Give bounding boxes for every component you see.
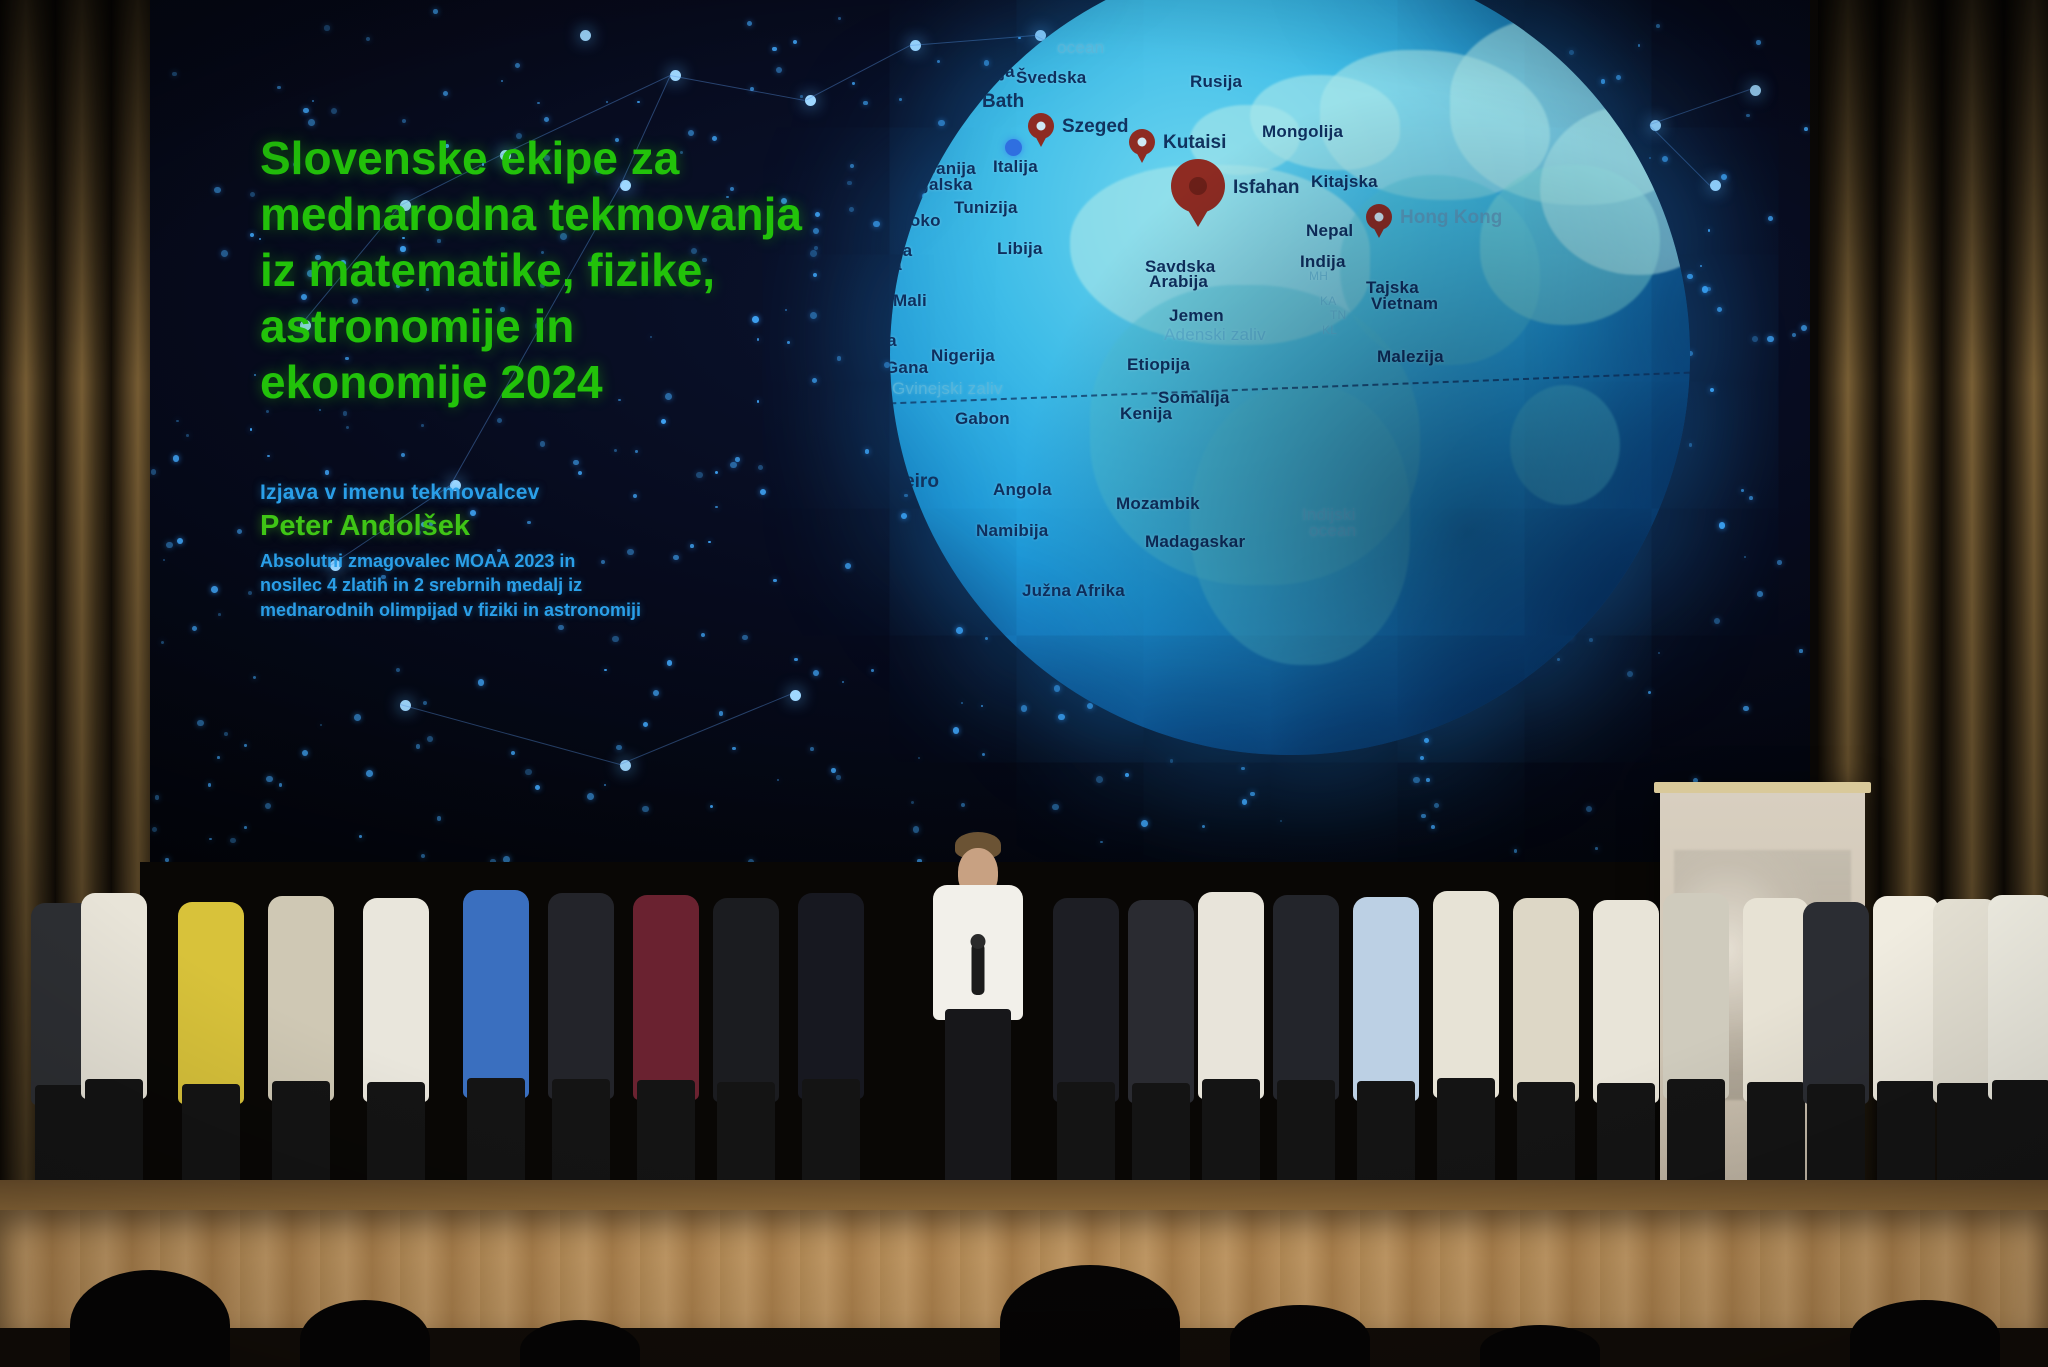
person-4 [360,840,432,1210]
star [1744,556,1746,558]
person-6 [545,835,617,1210]
map-label-12: Maroko [890,211,941,231]
pin-tail [1370,221,1388,238]
pin-head [948,88,974,114]
star [918,757,920,759]
star [849,207,854,212]
star [501,80,503,82]
star [719,711,723,715]
star [217,756,220,759]
star [1656,24,1660,28]
star [985,637,989,641]
star [525,769,531,775]
star [1719,522,1726,529]
person-torso [548,893,614,1100]
star [151,469,156,474]
star [221,250,228,257]
map-label-11: Portugalska [890,175,973,195]
star [161,641,164,644]
star [1741,489,1744,492]
star [172,72,177,77]
equator-line [890,372,1689,405]
person-torso [1128,900,1194,1103]
map-label-19: Gana [890,358,928,378]
star [847,181,851,185]
micro-label-9: NL [935,128,951,142]
bright-star [1710,180,1721,191]
person-legs [1437,1078,1495,1196]
constellation-line [910,35,1035,46]
star [1087,703,1093,709]
star [1717,307,1722,312]
star [331,108,337,114]
map-pin-isfahan[interactable]: Isfahan [1171,159,1225,213]
map-label-2: Rusija [1190,72,1242,92]
constellation-line [400,704,620,765]
star [850,164,854,168]
star [899,98,902,101]
star [831,768,836,773]
map-label-4: Kitajska [1311,172,1378,192]
star [938,120,945,127]
star [871,669,874,672]
map-label-3: Mongolija [1262,122,1343,142]
map-label-32: Južna Afrika [1022,581,1125,601]
star [366,770,373,777]
person-torso [633,895,699,1101]
star [667,660,672,665]
micro-label-8: KL [1322,323,1337,337]
pin-dot [957,97,966,106]
bright-star [580,30,591,41]
constellation-line [670,75,805,101]
star [544,117,549,122]
star [961,702,963,704]
person-torso [1053,898,1119,1102]
star [1424,738,1429,743]
credit-desc-line-2: mednarodnih olimpijad v fiziki in astron… [260,598,820,623]
star [433,9,438,14]
star [873,221,880,228]
person-torso [363,898,429,1102]
person-torso [1353,897,1419,1102]
map-pin-bath[interactable]: Bath [948,88,974,114]
person-legs [1747,1082,1805,1196]
star [224,732,228,736]
map-label-18: Gvineja [890,331,897,351]
star [302,750,308,756]
pin-dot [1037,122,1046,131]
person-23 [1985,837,2048,1210]
audience-head-5 [1480,1325,1600,1367]
city-dot-italija[interactable] [1005,139,1022,156]
star [701,633,705,637]
person-legs [272,1081,330,1196]
person-torso [1593,900,1659,1103]
star [197,720,204,727]
star [1054,685,1060,691]
map-label-16: Sahara [890,255,902,275]
person-2 [175,844,247,1210]
star [1746,114,1750,118]
star [836,775,841,780]
map-label-22: Savdska [1145,257,1215,277]
pin-label: Szeged [1062,116,1129,138]
star [981,705,983,707]
star [1757,591,1763,597]
person-13 [1270,837,1342,1210]
bright-star [1750,85,1761,96]
person-legs [1667,1079,1725,1196]
star [254,374,256,376]
person-torso [463,890,529,1098]
person-torso [1803,902,1869,1104]
star [953,727,960,734]
audience-head-4 [1230,1305,1370,1367]
star [366,37,370,41]
person-legs [1202,1079,1260,1196]
pin-label: Bath [982,91,1024,113]
constellation-line [620,694,790,765]
map-label-9: Malezija [1377,347,1444,367]
credit-description: Absolutni zmagovalec MOAA 2023 innosilec… [260,549,820,623]
star [863,101,868,106]
star [537,102,539,104]
star [1021,705,1028,712]
microphone [972,943,985,995]
pin-head [1028,113,1054,139]
people-on-stage [0,780,2048,1210]
star [558,625,564,631]
map-label-29: Mozambik [1116,494,1200,514]
projection-screen: IslandijaŠvedskaRusijaMongolijaKitajskaN… [150,0,1810,862]
pin-label: Kutaisi [1163,132,1226,154]
star [838,17,840,19]
person-20 [1800,844,1872,1210]
map-label-6: Indija [1300,252,1346,272]
map-label-5: Nepal [1306,221,1353,241]
star [732,747,736,751]
star [1687,274,1693,280]
person-torso [268,896,334,1101]
star [244,744,246,746]
star [1707,287,1711,291]
person-3 [265,838,337,1210]
person-torso [178,902,244,1104]
star [214,187,221,194]
star [842,681,844,683]
star [354,714,361,721]
person-legs [1277,1080,1335,1196]
star [1756,40,1761,45]
person-legs [802,1079,860,1196]
person-15 [1430,833,1502,1210]
person-torso [1513,898,1579,1102]
star [1420,756,1424,760]
star [852,82,854,84]
map-pin-szeged[interactable]: Szeged [1028,113,1054,139]
person-legs [1057,1082,1115,1196]
star [324,25,329,30]
pin-tail [1032,130,1050,147]
slide-title-line-1: mednarodna tekmovanja [260,186,820,242]
star [515,63,520,68]
star [218,613,221,616]
person-5 [460,832,532,1210]
person-legs [85,1079,143,1196]
star [1714,618,1720,624]
star [1752,336,1758,342]
micro-label-5: MH [1309,269,1328,283]
star [511,751,515,755]
person-legs [467,1078,525,1196]
person-legs [1357,1081,1415,1196]
map-label-14: Libija [997,239,1043,259]
star [1708,229,1710,231]
star [616,745,621,750]
credit-name: Peter Andolšek [260,510,820,543]
map-label-0: Islandija [945,62,1015,82]
star [237,529,242,534]
person-7 [630,837,702,1210]
pin-label: Rio de Janeiro [890,471,939,493]
constellation-line [805,45,910,101]
star [186,434,189,437]
map-label-20: Nigerija [931,346,995,366]
star [637,101,639,103]
star [1768,216,1773,221]
auditorium-scene: IslandijaŠvedskaRusijaMongolijaKitajskaN… [0,0,2048,1367]
person-9 [795,835,867,1210]
star [956,627,963,634]
pin-tail [1133,146,1151,163]
person-1 [78,835,150,1210]
map-label-31: Namibija [976,521,1048,541]
audience-head-6 [1850,1300,2000,1367]
ocean-label-5: ocean [1309,521,1356,541]
person-17 [1590,842,1662,1210]
pin-label: Isfahan [1233,177,1300,199]
ocean-label-4: Indijski [1302,505,1356,525]
star [800,95,803,98]
star [303,108,309,114]
star [1058,714,1065,721]
star [742,635,748,641]
star [443,91,448,96]
person-legs [717,1082,775,1196]
star [937,60,940,63]
slide-credits: Izjava v imenu tekmovalcev Peter Andolše… [260,481,820,623]
star [747,21,752,26]
ocean-label-7: Adenski zaliv [1164,325,1266,345]
person-10 [1050,840,1122,1210]
map-label-17: Mali [893,291,927,311]
star [1125,773,1129,777]
star [427,736,433,742]
map-label-28: Angola [993,480,1052,500]
map-label-23: Arabija [1149,272,1208,292]
person-torso [1433,891,1499,1099]
pin-dot [1138,138,1147,147]
micro-label-7: TN [1330,308,1346,322]
ocean-label-6: Gvinejski zaliv [892,379,1003,399]
star [1589,638,1593,642]
person-18 [1660,835,1732,1210]
star [402,119,407,124]
star [793,40,797,44]
map-pin-kutaisi[interactable]: Kutaisi [1129,129,1155,155]
star [982,753,985,756]
star [250,233,254,237]
map-label-25: Etiopija [1127,355,1190,375]
star [1804,127,1808,131]
star [837,356,841,360]
map-pin-hong-kong[interactable]: Hong Kong [1366,204,1392,230]
star [865,449,869,453]
map-label-1: Švedska [1016,68,1086,88]
star [604,669,606,671]
person-16 [1510,840,1582,1210]
pin-head [1129,129,1155,155]
person-legs [1992,1080,2048,1196]
star [312,100,314,102]
star [177,538,183,544]
person-legs [1517,1082,1575,1196]
slide-title: Slovenske ekipe zamednarodna tekmovanjai… [260,130,820,411]
star [612,636,618,642]
star [901,513,907,519]
star [423,701,427,705]
star [320,724,322,726]
slide-title-line-4: ekonomije 2024 [260,354,820,410]
person-legs [367,1082,425,1196]
map-label-30: Madagaskar [1145,532,1245,552]
ocean-label-3: Atlantik [890,564,891,584]
star [1799,649,1802,652]
person-8 [710,840,782,1210]
star [884,362,890,368]
map-label-13: Tunizija [954,198,1018,218]
star [772,47,776,51]
speaker-trousers [945,1009,1011,1194]
star [1241,767,1245,771]
pin-tail [1179,195,1217,227]
slide-text-block: Slovenske ekipe zamednarodna tekmovanjai… [260,130,820,623]
star [1170,759,1174,763]
micro-label-6: KA [1320,294,1336,308]
slide-title-line-2: iz matematike, fizike, [260,242,820,298]
pin-head [1171,159,1225,213]
pin-label: Hong Kong [1400,207,1502,229]
map-label-7: Tajska [1366,278,1419,298]
person-torso [1988,895,2048,1101]
star [1777,560,1782,565]
star [1721,174,1727,180]
star [1658,652,1661,655]
star [250,428,253,431]
star [416,744,421,749]
star [396,668,401,673]
credit-role: Izjava v imenu tekmovalcev [260,481,820,505]
star [606,101,609,104]
ocean-label-8: ocean [1057,38,1104,58]
slide-title-line-3: astronomije in [260,298,820,354]
speaker-with-microphone [935,790,1021,1210]
star [211,586,218,593]
star [845,563,851,569]
person-torso [713,898,779,1102]
map-label-8: Vietnam [1371,294,1438,314]
star [794,658,798,662]
star [176,420,178,422]
person-torso [81,893,147,1100]
star [1749,496,1753,500]
pin-dot [1375,213,1384,222]
slide-title-line-0: Slovenske ekipe za [260,130,820,186]
person-14 [1350,839,1422,1210]
person-torso [1198,892,1264,1099]
map-label-26: Somalija [1158,388,1230,408]
person-11 [1125,842,1197,1210]
city-label-italija: Italija [993,157,1038,177]
star [250,192,255,197]
pin-head [1366,204,1392,230]
star [813,670,819,676]
person-torso [1663,893,1729,1100]
star [1743,706,1748,711]
star [810,747,814,751]
person-torso [1273,895,1339,1101]
star [1767,336,1773,342]
person-legs [1877,1081,1935,1196]
bright-star [790,690,801,701]
person-legs [552,1079,610,1196]
credit-desc-line-1: nosilec 4 zlatih in 2 srebrnih medalj iz [260,573,820,598]
person-legs [637,1080,695,1196]
star [1700,265,1702,267]
star [253,676,256,679]
person-torso [798,893,864,1100]
star [1648,691,1651,694]
star [643,722,648,727]
star [163,559,165,561]
star [173,455,180,462]
person-12 [1195,834,1267,1210]
star [1627,671,1633,677]
star [653,690,659,696]
star [1801,325,1807,331]
star [277,86,280,89]
credit-desc-line-0: Absolutni zmagovalec MOAA 2023 in [260,549,820,574]
star [308,119,315,126]
map-label-27: Kenija [1120,404,1172,424]
star [478,679,484,685]
map-label-24: Jemen [1169,306,1224,326]
star [1557,658,1560,661]
star [1689,443,1692,446]
star [904,494,908,498]
pin-dot [1189,177,1207,195]
star [248,591,252,595]
star [1792,333,1796,337]
map-label-21: Gabon [955,409,1010,429]
star [166,542,173,549]
star [776,67,782,73]
star [1710,388,1714,392]
star [192,626,197,631]
